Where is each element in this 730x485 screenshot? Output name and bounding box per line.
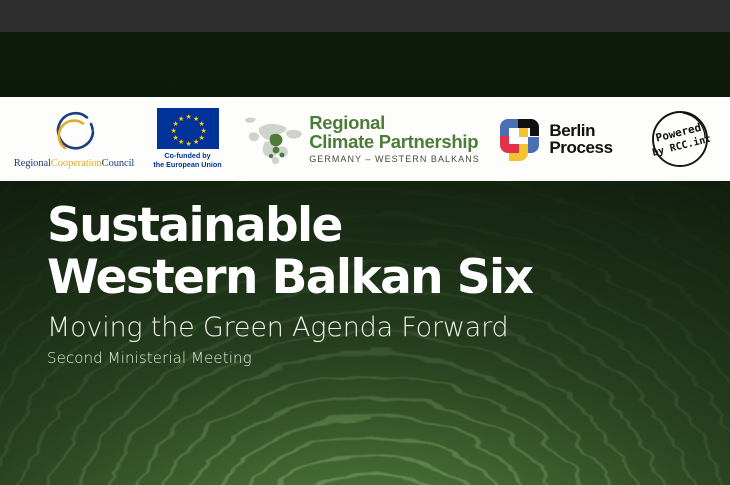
powered-by-rcc-stamp-icon: Powered by RCC.int: [650, 109, 710, 169]
eu-funding-line2: the European Union: [153, 161, 221, 170]
eu-funding-text: Co-funded by the European Union: [153, 152, 221, 169]
logo-powered-by-rcc: Powered by RCC.int: [630, 97, 730, 181]
rcc-circle-icon: [47, 110, 101, 156]
slide-canvas: RegionalCooperationCouncil ★ ★ ★ ★ ★ ★ ★…: [0, 0, 730, 485]
page-meeting-label: Second Ministerial Meeting: [47, 348, 687, 368]
top-bar: [0, 0, 730, 32]
europe-map-icon: [235, 111, 309, 167]
hero-text-block: Sustainable Western Balkan Six Moving th…: [47, 200, 687, 368]
logo-regional-climate-partnership: Regional Climate Partnership GERMANY – W…: [235, 97, 480, 181]
rcp-line3: GERMANY – WESTERN BALKANS: [309, 155, 480, 164]
page-title-line2: Western Balkan Six: [47, 252, 687, 304]
logo-berlin-process: Berlin Process: [480, 97, 630, 181]
rcc-word-council: Council: [102, 158, 135, 169]
rcp-wordmark: Regional Climate Partnership GERMANY – W…: [309, 114, 480, 164]
page-subtitle: Moving the Green Agenda Forward: [47, 311, 687, 345]
berlin-process-wordmark: Berlin Process: [549, 122, 612, 157]
logo-bar: RegionalCooperationCouncil ★ ★ ★ ★ ★ ★ ★…: [0, 97, 730, 181]
rcc-word-regional: Regional: [14, 158, 51, 169]
berlin-process-line1: Berlin: [549, 122, 612, 140]
eu-flag-icon: ★ ★ ★ ★ ★ ★ ★ ★ ★ ★ ★ ★: [157, 108, 219, 149]
logo-european-union: ★ ★ ★ ★ ★ ★ ★ ★ ★ ★ ★ ★ Co-funded by the…: [140, 97, 235, 181]
page-title-line1: Sustainable: [47, 200, 687, 252]
rcp-line2: Climate Partnership: [309, 133, 480, 152]
berlin-process-line2: Process: [549, 139, 612, 157]
rcc-word-cooperation: Cooperation: [51, 158, 102, 169]
berlin-process-icon: [497, 117, 542, 162]
rcc-wordmark: RegionalCooperationCouncil: [14, 158, 134, 169]
logo-regional-cooperation-council: RegionalCooperationCouncil: [0, 97, 140, 181]
